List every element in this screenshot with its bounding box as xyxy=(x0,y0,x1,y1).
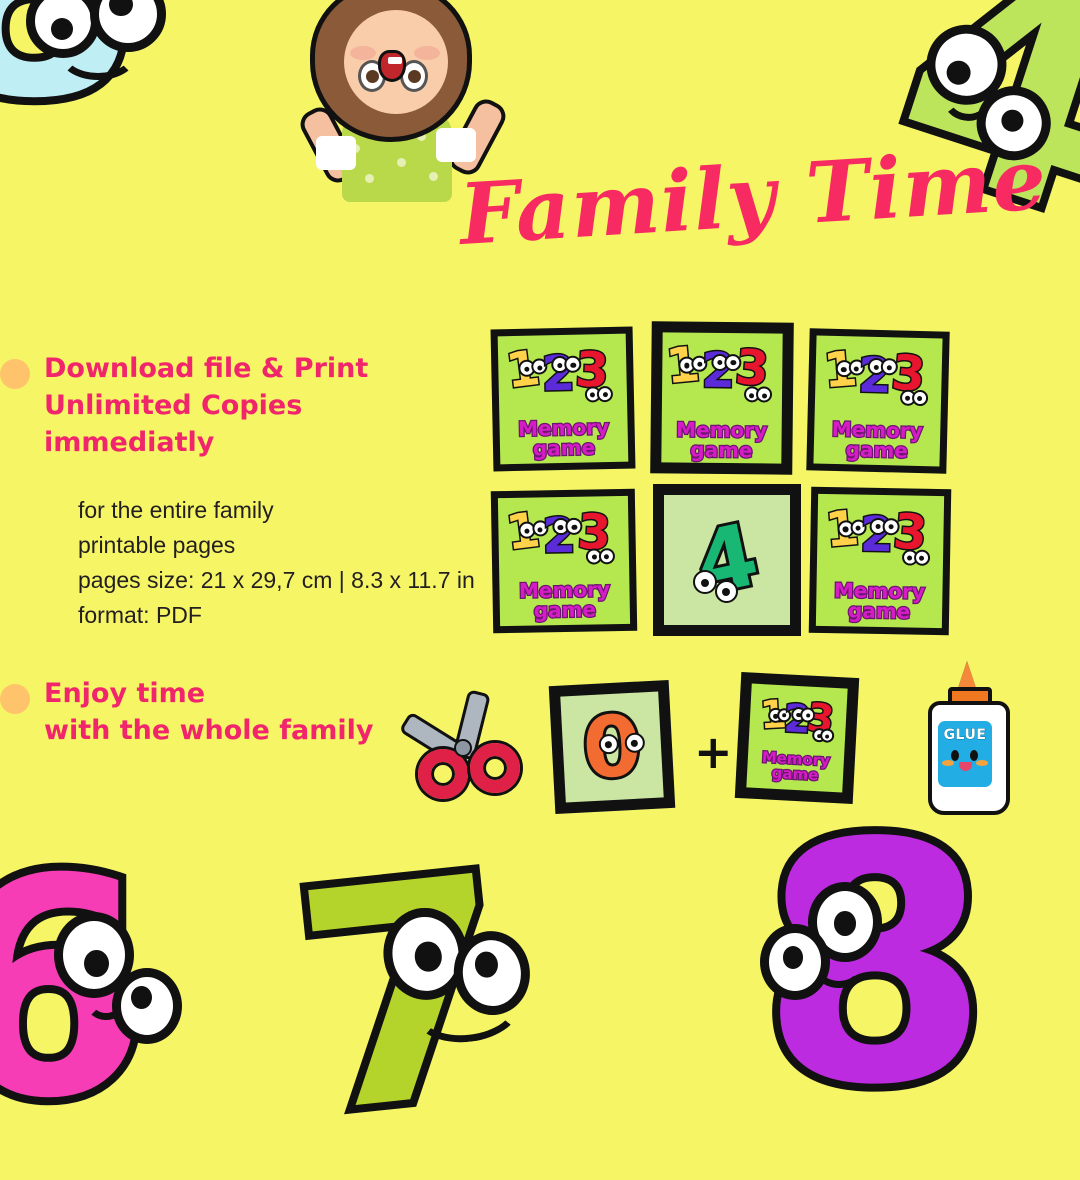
green-number-character: 7 xyxy=(289,863,641,1126)
number-zero-eye-right xyxy=(624,732,645,753)
memory-card[interactable]: 1 2 3 Memory game xyxy=(491,327,636,472)
blue-number-character: 8 xyxy=(0,0,230,180)
kid-sleeve-right xyxy=(316,136,356,170)
logo-text-line2: game xyxy=(676,440,767,461)
bullet-enjoy-text: Enjoy time with the whole family xyxy=(44,675,373,749)
logo-text-line2: game xyxy=(833,601,924,623)
logo-text-line2: game xyxy=(519,600,610,622)
memory-card-logo: 1 2 3 Memory game xyxy=(809,487,952,635)
bullet-download-text: Download file & Print Unlimited Copies i… xyxy=(44,350,480,461)
memory-card-logo: 1 2 3 Memory game xyxy=(491,489,637,633)
number-zero-card[interactable]: 0 xyxy=(549,680,676,814)
bullet-dot-icon xyxy=(0,684,30,714)
blue-character-smile xyxy=(58,26,138,80)
detail-item: printable pages xyxy=(78,528,480,563)
memory-card-logo: 1 2 3 Memory game xyxy=(491,327,636,472)
card-grid: 1 2 3 Memory game xyxy=(488,318,958,636)
bullet-download-line1: Download file & Print xyxy=(44,353,368,384)
scissors-icon xyxy=(412,687,522,797)
details-list: for the entire family printable pages pa… xyxy=(78,493,480,633)
logo-text-line2: game xyxy=(518,437,609,459)
purple-number-character: 8 xyxy=(730,830,1080,1110)
bullet-dot-icon xyxy=(0,359,30,389)
number-four-eye-left xyxy=(693,570,717,594)
kid-mouth xyxy=(378,50,406,82)
glue-label-text: GLUE xyxy=(944,727,987,743)
number-four-eye-right xyxy=(715,580,738,603)
number-four-card[interactable]: 4 xyxy=(653,484,801,636)
poster-canvas: 8 4 xyxy=(0,0,1080,1080)
bullet-download: Download file & Print Unlimited Copies i… xyxy=(0,350,480,461)
bullet-download-line2: Unlimited Copies immediatly xyxy=(44,387,480,461)
detail-item: for the entire family xyxy=(78,493,480,528)
kid-blush-left xyxy=(414,46,440,60)
purple-character-smile xyxy=(812,942,866,988)
memory-card[interactable]: 1 2 3 Memory game xyxy=(809,487,952,635)
bullet-enjoy-line1: Enjoy time xyxy=(44,678,205,709)
plus-sign: + xyxy=(694,725,733,779)
bullet-enjoy-line2: with the whole family xyxy=(44,712,373,749)
memory-card[interactable]: 1 2 3 Memory game xyxy=(650,321,794,474)
memory-card-logo: 1 2 3 Memory game xyxy=(806,328,949,473)
kid-sleeve-left xyxy=(436,128,476,162)
pink-character-smile xyxy=(86,986,126,1020)
kid-tooth xyxy=(388,57,402,64)
pink-number-character: 6 xyxy=(0,870,270,1130)
memory-card[interactable]: 1 2 3 Memory game xyxy=(491,489,637,633)
memory-card-logo: 1 2 3 Memory game xyxy=(650,321,794,474)
detail-item: format: PDF xyxy=(78,598,480,633)
memory-card[interactable]: 1 2 3 Memory game xyxy=(806,328,949,473)
detail-item: pages size: 21 x 29,7 cm | 8.3 x 11.7 in xyxy=(78,563,480,598)
kid-blush-right xyxy=(350,46,376,60)
